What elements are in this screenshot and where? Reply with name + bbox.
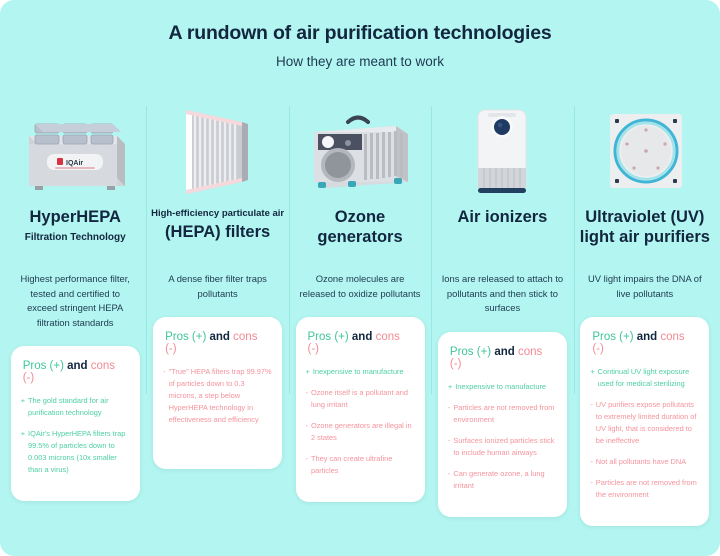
column-heading: Air ionizers <box>457 208 547 228</box>
column-heading: (HEPA) filters <box>165 223 270 243</box>
bullet-sign: + <box>590 366 594 390</box>
column-headings: Ozone generators <box>293 196 427 258</box>
list-item: + Inexpensive to manufacture <box>448 381 557 393</box>
bullet-text: IQAir's HyperHEPA filters trap 99.5% of … <box>28 428 130 476</box>
pros-cons-card: Pros (+) and cons (-) + Inexpensive to m… <box>438 332 567 517</box>
and-label: and <box>64 360 91 372</box>
bullet-text: Inexpensive to manufacture <box>455 381 546 393</box>
and-label: and <box>349 331 376 343</box>
column-description: UV light impairs the DNA of live polluta… <box>578 272 712 301</box>
technology-column-ozone: Ozone generators Ozone molecules are rel… <box>289 100 431 520</box>
bullet-text: "True" HEPA filters trap 99.97% of parti… <box>169 366 273 426</box>
column-headings: HyperHEPA Filtration Technology <box>8 196 142 258</box>
bullet-sign: - <box>448 435 450 459</box>
bullet-text: The gold standard for air purification t… <box>28 395 130 419</box>
bullet-sign: + <box>448 381 452 393</box>
bullet-text: Particles are not removed from environme… <box>453 402 557 426</box>
pros-label: Pros (+) <box>592 331 633 343</box>
column-heading: Ozone generators <box>293 208 427 248</box>
air-ionizer-icon <box>435 100 569 196</box>
pros-label: Pros (+) <box>165 331 206 343</box>
pros-cons-card-wrap: Pros (+) and cons (-) + Inexpensive to m… <box>435 332 569 535</box>
bullet-text: Surfaces ionized particles stick to incl… <box>453 435 557 459</box>
list-item: - UV purifiers expose pollutants to extr… <box>590 399 699 447</box>
bullet-text: Continual UV light exposure used for med… <box>598 366 700 390</box>
column-heading: Ultraviolet (UV) light air purifiers <box>578 208 712 248</box>
pros-cons-card: Pros (+) and cons (-) + Inexpensive to m… <box>296 317 425 502</box>
bullet-text: UV purifiers expose pollutants to extrem… <box>596 399 700 447</box>
list-item: - Ozone itself is a pollutant and lung i… <box>306 387 415 411</box>
bullet-list: + Continual UV light exposure used for m… <box>590 366 699 501</box>
list-item: - Surfaces ionized particles stick to in… <box>448 435 557 459</box>
bullet-text: Particles are not removed from the envir… <box>596 477 700 501</box>
column-headings: Air ionizers <box>435 196 569 258</box>
pros-cons-title: Pros (+) and cons (-) <box>590 331 699 355</box>
column-description: A dense fiber filter traps pollutants <box>150 272 284 301</box>
list-item: + Continual UV light exposure used for m… <box>590 366 699 390</box>
technology-column-hyperhepa: IQAir HyperHEPA Filtration Technology Hi… <box>4 100 146 519</box>
and-label: and <box>206 331 233 343</box>
bullet-list: + Inexpensive to manufacture - Particles… <box>448 381 557 492</box>
pros-cons-title: Pros (+) and cons (-) <box>448 346 557 370</box>
bullet-sign: - <box>590 399 592 447</box>
uv-light-purifier-icon <box>578 100 712 196</box>
bullet-text: Inexpensive to manufacture <box>313 366 404 378</box>
technology-column-hepa: High-efficiency particulate air (HEPA) f… <box>146 100 288 487</box>
bullet-sign: - <box>448 402 450 426</box>
column-heading: HyperHEPA <box>30 208 121 228</box>
and-label: and <box>491 346 518 358</box>
pros-cons-card-wrap: Pros (+) and cons (-) + Inexpensive to m… <box>293 317 427 520</box>
list-item: - "True" HEPA filters trap 99.97% of par… <box>163 366 272 426</box>
bullet-text: Ozone generators are illegal in 2 states <box>311 420 415 444</box>
pros-cons-title: Pros (+) and cons (-) <box>163 331 272 355</box>
bullet-text: Can generate ozone, a lung irritant <box>453 468 557 492</box>
page-subtitle: How they are meant to work <box>0 54 720 69</box>
pros-label: Pros (+) <box>308 331 349 343</box>
column-kicker: High-efficiency particulate air <box>151 208 284 221</box>
bullet-sign: + <box>21 428 25 476</box>
list-item: - Particles are not removed from the env… <box>590 477 699 501</box>
pros-cons-title: Pros (+) and cons (-) <box>306 331 415 355</box>
list-item: - Ozone generators are illegal in 2 stat… <box>306 420 415 444</box>
pros-label: Pros (+) <box>450 346 491 358</box>
pros-cons-card-wrap: Pros (+) and cons (-) + Continual UV lig… <box>578 317 712 544</box>
list-item: - Not all pollutants have DNA <box>590 456 699 468</box>
column-subheading: Filtration Technology <box>25 231 126 244</box>
header: A rundown of air purification technologi… <box>0 0 720 69</box>
list-item: + Inexpensive to manufacture <box>306 366 415 378</box>
svg-text:IQAir: IQAir <box>66 160 83 167</box>
column-headings: Ultraviolet (UV) light air purifiers <box>578 196 712 258</box>
column-description: Ozone molecules are released to oxidize … <box>293 272 427 301</box>
pros-cons-title: Pros (+) and cons (-) <box>21 360 130 384</box>
column-description: Ions are released to attach to pollutant… <box>435 272 569 316</box>
bullet-sign: + <box>306 366 310 378</box>
bullet-text: Not all pollutants have DNA <box>596 456 686 468</box>
pros-label: Pros (+) <box>23 360 64 372</box>
bullet-text: They can create ultrafine particles <box>311 453 415 477</box>
bullet-sign: + <box>21 395 25 419</box>
column-description: Highest performance filter, tested and c… <box>8 272 142 330</box>
hepa-pleated-filter-icon <box>150 100 284 196</box>
pros-cons-card: Pros (+) and cons (-) + Continual UV lig… <box>580 317 709 526</box>
list-item: + IQAir's HyperHEPA filters trap 99.5% o… <box>21 428 130 476</box>
list-item: - Can generate ozone, a lung irritant <box>448 468 557 492</box>
hyperhepa-filter-icon: IQAir <box>8 100 142 196</box>
page-title: A rundown of air purification technologi… <box>0 22 720 45</box>
bullet-sign: - <box>163 366 165 426</box>
bullet-list: + Inexpensive to manufacture - Ozone its… <box>306 366 415 477</box>
technology-columns: IQAir HyperHEPA Filtration Technology Hi… <box>0 100 720 556</box>
ozone-generator-icon <box>293 100 427 196</box>
bullet-list: - "True" HEPA filters trap 99.97% of par… <box>163 366 272 426</box>
pros-cons-card: Pros (+) and cons (-) + The gold standar… <box>11 346 140 501</box>
technology-column-ionizer: Air ionizers Ions are released to attach… <box>431 100 573 535</box>
pros-cons-card-wrap: Pros (+) and cons (-) - "True" HEPA filt… <box>150 317 284 487</box>
and-label: and <box>634 331 661 343</box>
pros-cons-card: Pros (+) and cons (-) - "True" HEPA filt… <box>153 317 282 469</box>
column-headings: High-efficiency particulate air (HEPA) f… <box>150 196 284 258</box>
bullet-sign: - <box>306 420 308 444</box>
list-item: + The gold standard for air purification… <box>21 395 130 419</box>
infographic-root: A rundown of air purification technologi… <box>0 0 720 556</box>
list-item: - They can create ultrafine particles <box>306 453 415 477</box>
pros-cons-card-wrap: Pros (+) and cons (-) + The gold standar… <box>8 346 142 519</box>
bullet-sign: - <box>590 477 592 501</box>
bullet-text: Ozone itself is a pollutant and lung irr… <box>311 387 415 411</box>
list-item: - Particles are not removed from environ… <box>448 402 557 426</box>
bullet-sign: - <box>448 468 450 492</box>
bullet-list: + The gold standard for air purification… <box>21 395 130 476</box>
bullet-sign: - <box>306 453 308 477</box>
bullet-sign: - <box>306 387 308 411</box>
bullet-sign: - <box>590 456 592 468</box>
technology-column-uv: Ultraviolet (UV) light air purifiers UV … <box>574 100 716 544</box>
